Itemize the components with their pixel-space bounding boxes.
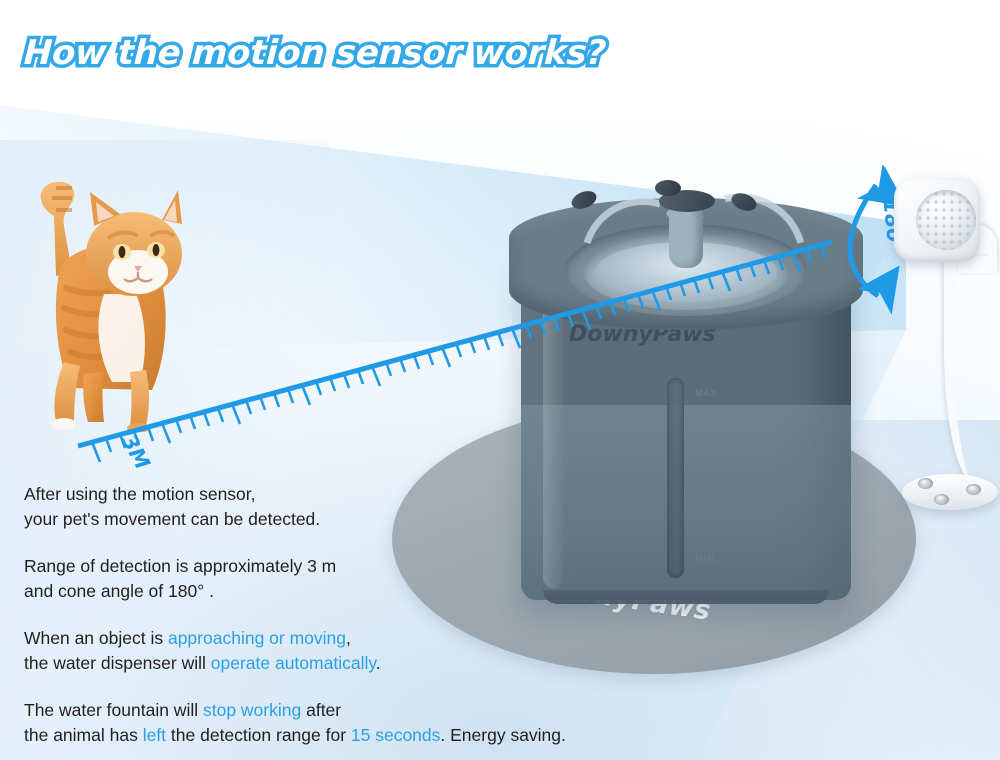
body-text: your pet's movement can be detected. xyxy=(24,509,320,529)
body-text: after xyxy=(301,700,341,720)
sensor-stand-base xyxy=(902,474,998,510)
highlighted-text: operate automatically xyxy=(211,653,376,673)
body-text: the water dispenser will xyxy=(24,653,211,673)
base-screw-icon xyxy=(966,484,981,495)
body-text: After using the motion sensor, xyxy=(24,484,256,504)
highlighted-text: approaching or moving xyxy=(168,628,346,648)
paragraph-p3: When an object is approaching or moving,… xyxy=(24,626,624,676)
pir-lens-icon xyxy=(916,190,976,250)
stream-nozzle-center xyxy=(655,180,681,196)
base-screw-icon xyxy=(934,494,949,505)
base-screw-icon xyxy=(918,478,933,489)
body-text: Range of detection is approximately 3 m xyxy=(24,556,336,576)
highlighted-text: stop working xyxy=(203,700,301,720)
cat-illustration xyxy=(12,176,212,432)
water-level-window xyxy=(667,378,684,578)
gooseneck-arm xyxy=(944,256,1000,486)
fountain-spout xyxy=(669,204,703,268)
highlighted-text: left xyxy=(143,725,166,745)
paragraph-p2: Range of detection is approximately 3 ma… xyxy=(24,554,624,604)
body-text: and cone angle of 180° . xyxy=(24,581,214,601)
body-text: When an object is xyxy=(24,628,168,648)
body-text: , xyxy=(346,628,351,648)
sensor-housing xyxy=(894,178,980,262)
body-text: . xyxy=(376,653,381,673)
highlighted-text: 15 seconds xyxy=(351,725,441,745)
body-text: the animal has xyxy=(24,725,143,745)
water-level-max-label: MAX xyxy=(695,388,718,398)
page-title: How the motion sensor works? xyxy=(23,33,607,73)
paragraph-p4: The water fountain will stop working aft… xyxy=(24,698,624,748)
paragraph-p1: After using the motion sensor,your pet's… xyxy=(24,482,624,532)
water-level-min-label: MIN xyxy=(695,554,715,564)
body-text: . Energy saving. xyxy=(440,725,565,745)
infographic-canvas: DownyPaws MAX MIN DownyPaws xyxy=(0,0,1000,760)
body-text: the detection range for xyxy=(166,725,351,745)
motion-sensor-assembly xyxy=(884,178,1000,538)
description-block: After using the motion sensor,your pet's… xyxy=(24,482,624,748)
body-text: The water fountain will xyxy=(24,700,203,720)
